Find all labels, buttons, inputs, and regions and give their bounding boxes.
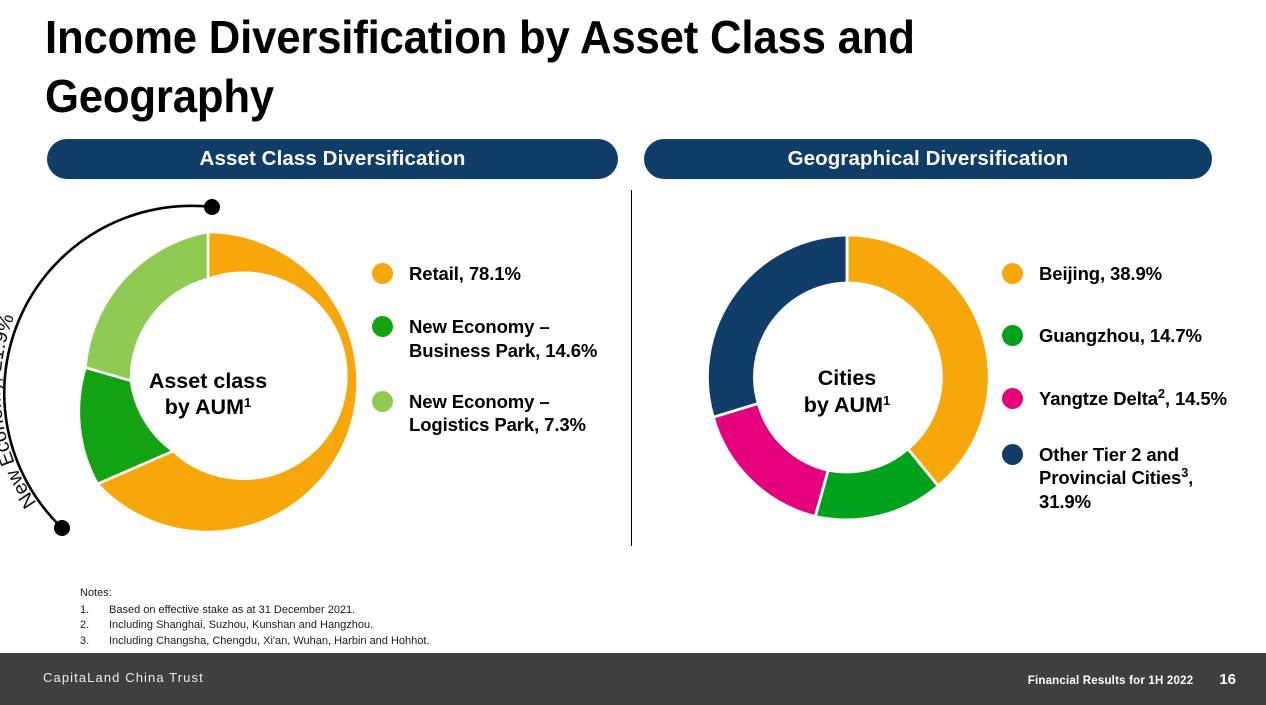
legend-label-logistics-park-line1: New Economy –: [409, 391, 550, 412]
legend-dot-icon-guangzhou: [1002, 325, 1023, 346]
note-number-1: 1.: [80, 603, 109, 619]
legend-dot-icon-retail: [372, 263, 393, 284]
legend-item-logistics-park[interactable]: New Economy – Logistics Park, 7.3%: [372, 390, 622, 437]
asset-class-legend: Retail, 78.1% New Economy – Business Par…: [372, 262, 622, 436]
legend-item-yangtze-delta[interactable]: Yangtze Delta2, 14.5%: [1002, 387, 1260, 410]
donut-center-sup-cities: 1: [883, 393, 890, 408]
note-text-2: Including Shanghai, Suzhou, Kunshan and …: [109, 618, 373, 634]
footer-right-group: Financial Results for 1H 2022 16: [1028, 671, 1236, 688]
donut-center-line2-cities: by AUM1: [804, 393, 890, 417]
legend-label-yangtze-delta-post: , 14.5%: [1165, 388, 1227, 409]
legend-label-business-park-line1: New Economy –: [409, 316, 550, 337]
note-item-2: 2. Including Shanghai, Suzhou, Kunshan a…: [80, 618, 430, 634]
legend-label-yangtze-delta-sup: 2: [1158, 387, 1165, 401]
note-number-3: 3.: [80, 634, 109, 650]
callout-dot-end: [204, 199, 220, 215]
note-text-3: Including Changsha, Chengdu, Xi'an, Wuha…: [109, 634, 430, 650]
legend-label-logistics-park: New Economy – Logistics Park, 7.3%: [409, 390, 586, 437]
legend-label-other-tier2: Other Tier 2 andProvincial Cities3,31.9%: [1039, 443, 1193, 513]
legend-label-other-tier2-line2-post: ,: [1188, 468, 1193, 489]
panel-header-geographical: Geographical Diversification: [644, 139, 1212, 179]
notes-heading: Notes:: [80, 586, 430, 602]
donut-center-line2-text-asset: by AUM: [165, 395, 244, 419]
legend-dot-icon-logistics-park: [372, 391, 393, 412]
legend-label-business-park: New Economy – Business Park, 14.6%: [409, 315, 597, 362]
footer-report-title: Financial Results for 1H 2022: [1028, 675, 1194, 687]
slide-canvas: Income Diversification by Asset Class an…: [0, 0, 1266, 705]
legend-item-guangzhou[interactable]: Guangzhou, 14.7%: [1002, 324, 1260, 347]
callout-dot-start: [54, 520, 70, 536]
footer-brand: CapitaLand China Trust: [43, 670, 204, 685]
legend-label-business-park-line2: Business Park, 14.6%: [409, 340, 597, 361]
legend-item-retail[interactable]: Retail, 78.1%: [372, 262, 622, 285]
cities-legend: Beijing, 38.9% Guangzhou, 14.7% Yangtze …: [1002, 262, 1260, 513]
page-title: Income Diversification by Asset Class an…: [45, 8, 995, 126]
note-number-2: 2.: [80, 618, 109, 634]
legend-label-yangtze-delta-pre: Yangtze Delta: [1039, 388, 1158, 409]
legend-label-other-tier2-line2-pre: Provincial Cities: [1039, 468, 1181, 489]
donut-center-line2-text-cities: by AUM: [804, 393, 883, 417]
note-item-1: 1. Based on effective stake as at 31 Dec…: [80, 603, 430, 619]
legend-item-other-tier2[interactable]: Other Tier 2 andProvincial Cities3,31.9%: [1002, 443, 1260, 513]
footer-bar: CapitaLand China Trust Financial Results…: [0, 653, 1266, 705]
cities-donut-chart: Cities by AUM1: [688, 218, 1006, 548]
panel-header-asset-class: Asset Class Diversification: [47, 139, 618, 179]
legend-label-guangzhou: Guangzhou, 14.7%: [1039, 324, 1202, 347]
legend-label-other-tier2-line1: Other Tier 2 and: [1039, 444, 1179, 465]
note-text-1: Based on effective stake as at 31 Decemb…: [109, 603, 355, 619]
note-item-3: 3. Including Changsha, Chengdu, Xi'an, W…: [80, 634, 430, 650]
donut-center-line1-cities: Cities: [818, 366, 877, 390]
legend-dot-icon-yangtze-delta: [1002, 388, 1023, 409]
donut-slice-logistics-park: [85, 232, 208, 381]
legend-dot-icon-beijing: [1002, 263, 1023, 284]
legend-label-logistics-park-line2: Logistics Park, 7.3%: [409, 414, 586, 435]
legend-item-beijing[interactable]: Beijing, 38.9%: [1002, 262, 1260, 285]
donut-center-sup-asset: 1: [244, 395, 251, 410]
legend-label-other-tier2-line3: 31.9%: [1039, 491, 1091, 512]
callout-label: New Economy, 21.9%: [0, 311, 41, 512]
panel-header-asset-class-label: Asset Class Diversification: [200, 147, 466, 171]
donut-slice-beijing: [847, 235, 989, 486]
legend-dot-icon-other-tier2: [1002, 444, 1023, 465]
legend-label-retail: Retail, 78.1%: [409, 262, 521, 285]
footer-page-number: 16: [1219, 671, 1236, 688]
legend-label-beijing: Beijing, 38.9%: [1039, 262, 1162, 285]
donut-center-line1-asset: Asset class: [149, 369, 267, 393]
legend-label-yangtze-delta: Yangtze Delta2, 14.5%: [1039, 387, 1227, 410]
callout-label-text: New Economy, 21.9%: [0, 311, 41, 512]
panel-divider: [631, 190, 632, 546]
legend-dot-icon-business-park: [372, 316, 393, 337]
panel-header-geographical-label: Geographical Diversification: [788, 147, 1069, 171]
asset-class-donut-chart: New Economy, 21.9% Asset class by AUM1: [40, 210, 380, 558]
donut-center-line2-asset: by AUM1: [165, 395, 251, 419]
notes-block: Notes: 1. Based on effective stake as at…: [80, 586, 430, 649]
legend-item-business-park[interactable]: New Economy – Business Park, 14.6%: [372, 315, 622, 362]
donut-slice-yangtze-delta: [713, 403, 828, 516]
